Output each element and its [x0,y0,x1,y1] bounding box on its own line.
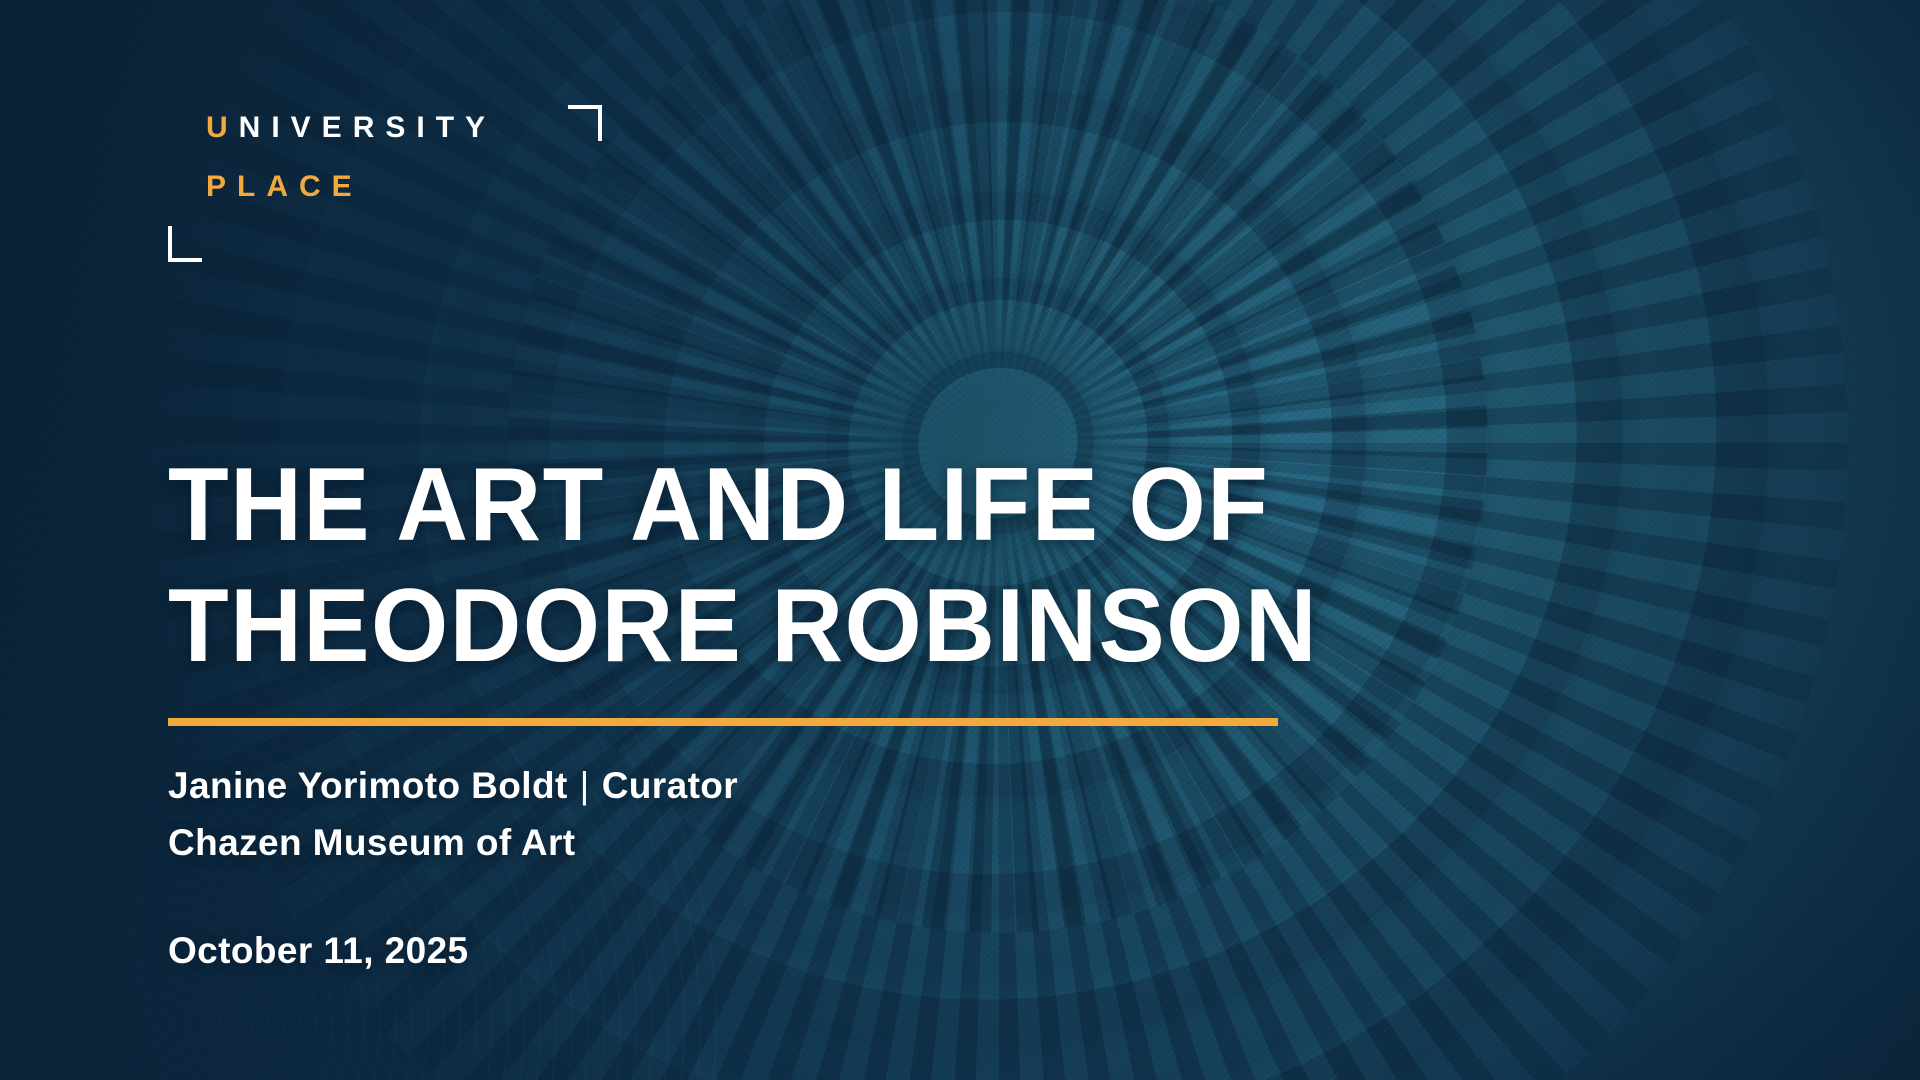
title-slide: UNIVERSITY PLACE THE ART AND LIFE OF THE… [0,0,1920,1080]
slide-title-line-2: THEODORE ROBINSON [168,566,1534,688]
corner-bracket-top-right-icon [568,105,602,141]
presenter-role: Curator [602,765,738,806]
presenter-name-row: Janine Yorimoto Boldt|Curator [168,757,738,814]
logo-line-university-rest: NIVERSITY [239,111,496,144]
presenter-name: Janine Yorimoto Boldt [168,765,568,806]
presenter-affiliation: Chazen Museum of Art [168,814,738,871]
university-place-logo: UNIVERSITY PLACE [168,100,608,266]
presentation-date: October 11, 2025 [168,930,469,972]
logo-lead-letter: U [206,111,239,144]
logo-line-place: PLACE [206,172,363,202]
presenter-separator: | [568,757,602,814]
slide-title-line-1: THE ART AND LIFE OF [168,445,1534,567]
presenter-block: Janine Yorimoto Boldt|Curator Chazen Mus… [168,757,738,872]
slide-content: UNIVERSITY PLACE THE ART AND LIFE OF THE… [0,0,1920,1080]
orange-divider-rule [168,718,1278,726]
slide-title: THE ART AND LIFE OF THEODORE ROBINSON [168,445,1534,688]
corner-bracket-bottom-left-icon [168,226,202,262]
logo-line-university: UNIVERSITY [206,113,496,143]
